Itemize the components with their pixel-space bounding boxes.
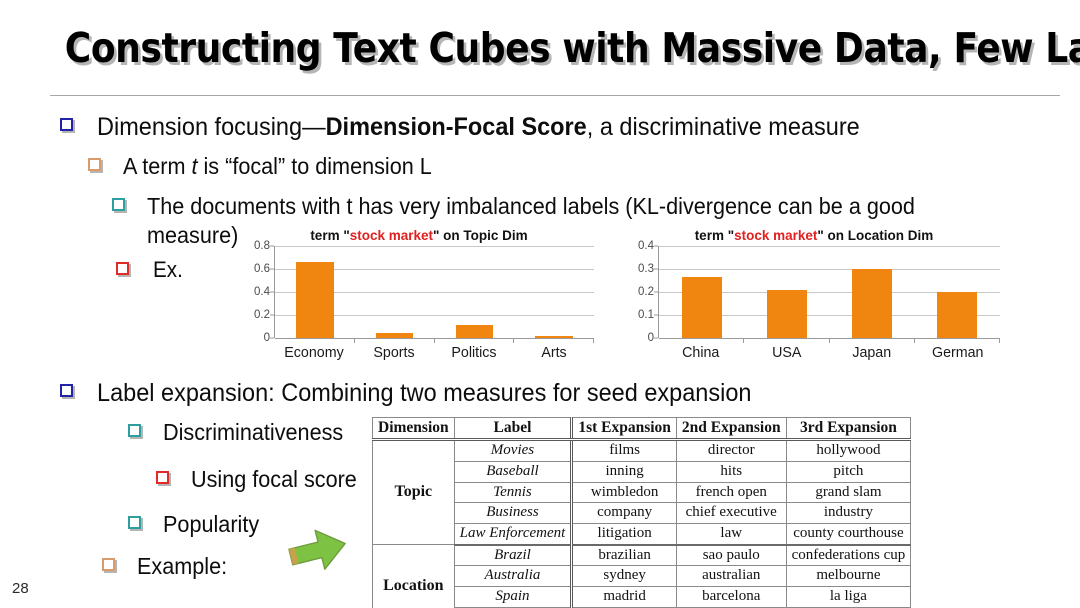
bullet-text-bold: Dimension-Focal Score	[326, 113, 587, 141]
table-row: Tenniswimbledonfrench opengrand slam	[373, 482, 911, 503]
bar-sports	[376, 333, 413, 338]
bullet-using-focal-score: Using focal score	[156, 465, 367, 494]
bullet-label: Discriminativeness	[163, 418, 343, 447]
chart-title-highlight: stock market	[734, 228, 817, 243]
chart-plot-area: 00.10.20.30.4	[628, 246, 1000, 338]
table-cell-expansion-1: brazilian	[572, 545, 677, 566]
table-cell-expansion-3: pitch	[786, 461, 911, 482]
plot-region	[658, 246, 1000, 338]
table-cell-expansion-1: madrid	[572, 587, 677, 608]
expansion-table: DimensionLabel1st Expansion2nd Expansion…	[372, 417, 911, 608]
bullet-label: Dimension focusing—Dimension-Focal Score…	[97, 112, 860, 144]
table-cell-expansion-3: grand slam	[786, 482, 911, 503]
table-row: LocationBrazilbraziliansao pauloconfeder…	[373, 545, 911, 566]
table-cell-expansion-2: barcelona	[676, 587, 786, 608]
table-cell-expansion-2: sao paulo	[676, 545, 786, 566]
bullet-label: Popularity	[163, 510, 259, 539]
bar-usa	[767, 290, 807, 338]
page-title: Constructing Text Cubes with Massive Dat…	[65, 24, 1015, 72]
x-axis-label: Japan	[831, 344, 912, 361]
y-axis: 00.20.40.60.8	[244, 246, 274, 338]
bullet-text-suffix: is “focal” to dimension L	[197, 153, 431, 179]
table-cell-expansion-2: chief executive	[676, 503, 786, 524]
bar-arts	[535, 336, 572, 338]
chart-title-prefix: term "	[310, 228, 349, 243]
bullet-example-ex: Ex.	[116, 256, 185, 284]
x-axis-labels: EconomySportsPoliticsArts	[274, 344, 594, 361]
bullet-example: Example:	[102, 552, 233, 581]
bullet-square-icon	[102, 558, 115, 571]
table-cell-expansion-2: hits	[676, 461, 786, 482]
y-axis-tick-label: 0.1	[638, 309, 654, 321]
bar-slot	[915, 246, 1000, 338]
chart-topic-dim: term "stock market" on Topic Dim 00.20.4…	[244, 228, 594, 361]
bar-slot	[659, 246, 744, 338]
x-axis-label: Politics	[436, 344, 512, 361]
table-header-row: DimensionLabel1st Expansion2nd Expansion…	[373, 418, 911, 440]
bullet-square-icon	[156, 471, 169, 484]
table-cell-expansion-3: industry	[786, 503, 911, 524]
x-axis-label: German	[917, 344, 998, 361]
table-cell-expansion-3: hollywood	[786, 440, 911, 462]
table-cell-expansion-1: litigation	[572, 524, 677, 545]
table-header: DimensionLabel1st Expansion2nd Expansion…	[373, 418, 911, 440]
bar-china	[682, 277, 722, 338]
table-row: Law Enforcementlitigationlawcounty court…	[373, 524, 911, 545]
bar-economy	[296, 262, 333, 338]
x-axis-label: Arts	[516, 344, 592, 361]
bar-slot	[275, 246, 355, 338]
table-cell-label: Spain	[454, 587, 572, 608]
bar-series	[659, 246, 1000, 338]
table-cell-expansion-1: sydney	[572, 566, 677, 587]
table-cell-label: Law Enforcement	[454, 524, 572, 545]
x-axis-label: USA	[746, 344, 827, 361]
bullet-label-expansion: Label expansion: Combining two measures …	[60, 378, 793, 410]
table-column-header: Label	[454, 418, 572, 440]
bullet-text-prefix: Dimension focusing—	[97, 113, 326, 141]
table-cell-dimension: Location	[373, 545, 455, 608]
chart-plot-area: 00.20.40.60.8	[244, 246, 594, 338]
y-axis-tick-label: 0.6	[254, 263, 270, 275]
table-row: Australiasydneyaustralianmelbourne	[373, 566, 911, 587]
table-cell-expansion-1: company	[572, 503, 677, 524]
y-axis-tick-label: 0.4	[254, 286, 270, 298]
bullet-square-icon	[60, 118, 73, 131]
chart-title-highlight: stock market	[350, 228, 433, 243]
x-axis-labels: ChinaUSAJapanGerman	[658, 344, 1000, 361]
table-column-header: 3rd Expansion	[786, 418, 911, 440]
y-axis: 00.10.20.30.4	[628, 246, 658, 338]
table-cell-expansion-3: confederations cup	[786, 545, 911, 566]
title-divider	[50, 95, 1060, 96]
table-column-header: Dimension	[373, 418, 455, 440]
bar-german	[937, 292, 977, 338]
chart-title-suffix: " on Location Dim	[817, 228, 933, 243]
table-cell-label: Movies	[454, 440, 572, 462]
table-cell-expansion-3: county courthouse	[786, 524, 911, 545]
bar-slot	[514, 246, 594, 338]
y-axis-tick-label: 0.2	[254, 309, 270, 321]
y-axis-tick-label: 0.3	[638, 263, 654, 275]
bar-slot	[355, 246, 435, 338]
page-number: 28	[12, 580, 29, 597]
gridline	[659, 338, 1000, 339]
table-cell-expansion-2: director	[676, 440, 786, 462]
table-column-header: 2nd Expansion	[676, 418, 786, 440]
table-cell-label: Australia	[454, 566, 572, 587]
chart-location-dim: term "stock market" on Location Dim 00.1…	[628, 228, 1000, 361]
table-row: TopicMoviesfilmsdirectorhollywood	[373, 440, 911, 462]
bullet-term-focal: A term t is “focal” to dimension L	[88, 152, 452, 181]
table-cell-expansion-1: inning	[572, 461, 677, 482]
y-axis-tick-label: 0.2	[638, 286, 654, 298]
table-cell-expansion-2: law	[676, 524, 786, 545]
bullet-square-icon	[60, 384, 73, 397]
table-cell-label: Baseball	[454, 461, 572, 482]
bullet-popularity: Popularity	[128, 510, 265, 539]
table-cell-label: Tennis	[454, 482, 572, 503]
chart-title-suffix: " on Topic Dim	[433, 228, 528, 243]
green-right-arrow-icon	[286, 524, 352, 581]
bullet-discriminativeness: Discriminativeness	[128, 418, 355, 447]
table-cell-expansion-2: australian	[676, 566, 786, 587]
bullet-label: Example:	[137, 552, 227, 581]
bar-series	[275, 246, 594, 338]
table-cell-dimension: Topic	[373, 440, 455, 545]
bar-slot	[744, 246, 829, 338]
bar-japan	[852, 269, 892, 338]
table-column-header: 1st Expansion	[572, 418, 677, 440]
bullet-label: Ex.	[153, 256, 183, 284]
slide-canvas: Constructing Text Cubes with Massive Dat…	[0, 0, 1080, 608]
y-axis-tick-label: 0.4	[638, 240, 654, 252]
bullet-square-icon	[116, 262, 129, 275]
bullet-square-icon	[88, 158, 101, 171]
chart-title: term "stock market" on Topic Dim	[244, 228, 594, 243]
bullet-label: Using focal score	[191, 465, 357, 494]
bullet-dimension-focusing: Dimension focusing—Dimension-Focal Score…	[60, 112, 908, 144]
bullet-label: A term t is “focal” to dimension L	[123, 152, 432, 181]
bullet-text-suffix: , a discriminative measure	[587, 113, 860, 141]
table-cell-expansion-3: la liga	[786, 587, 911, 608]
bullet-square-icon	[128, 516, 141, 529]
bar-politics	[456, 325, 493, 338]
table-row: Businesscompanychief executiveindustry	[373, 503, 911, 524]
bar-slot	[435, 246, 515, 338]
table-row: Spainmadridbarcelonala liga	[373, 587, 911, 608]
table-cell-expansion-2: french open	[676, 482, 786, 503]
table-cell-label: Business	[454, 503, 572, 524]
x-axis-label: Sports	[356, 344, 432, 361]
x-axis-label: China	[660, 344, 741, 361]
table-cell-expansion-3: melbourne	[786, 566, 911, 587]
table-cell-expansion-1: films	[572, 440, 677, 462]
table-row: Baseballinninghitspitch	[373, 461, 911, 482]
bullet-label: Label expansion: Combining two measures …	[97, 378, 751, 410]
bullet-text-prefix: A term	[123, 153, 191, 179]
chart-title: term "stock market" on Location Dim	[628, 228, 1000, 243]
bullet-square-icon	[128, 424, 141, 437]
bar-slot	[830, 246, 915, 338]
bullet-square-icon	[112, 198, 125, 211]
chart-title-prefix: term "	[695, 228, 734, 243]
y-axis-tick-label: 0.8	[254, 240, 270, 252]
x-axis-label: Economy	[276, 344, 352, 361]
table-body: TopicMoviesfilmsdirectorhollywoodBasebal…	[373, 440, 911, 608]
plot-region	[274, 246, 594, 338]
table-cell-expansion-1: wimbledon	[572, 482, 677, 503]
table-cell-label: Brazil	[454, 545, 572, 566]
gridline	[275, 338, 594, 339]
